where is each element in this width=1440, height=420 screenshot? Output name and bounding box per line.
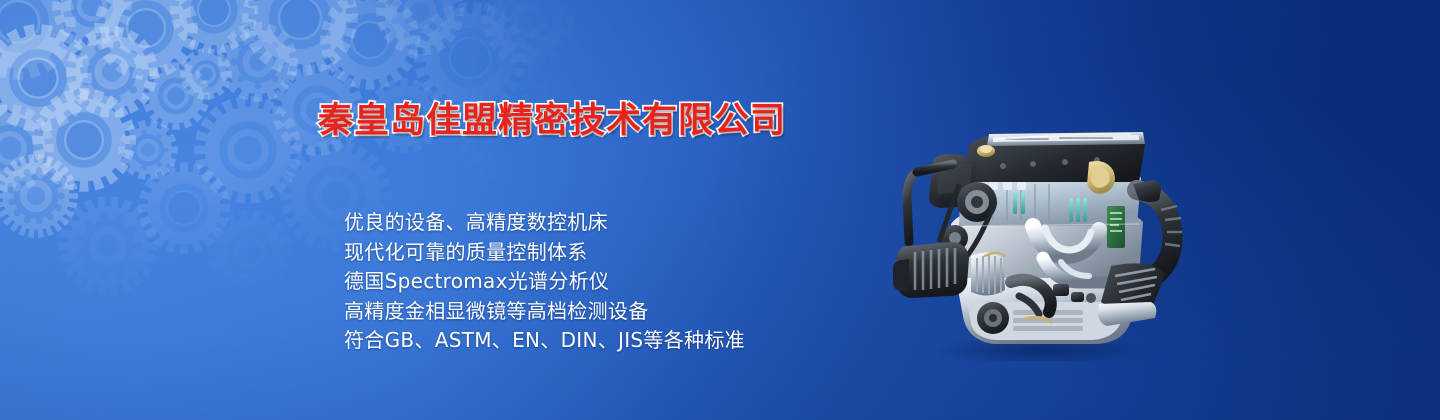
page-title: 秦皇岛佳盟精密技术有限公司: [318, 101, 786, 141]
feature-line: 高精度金相显微镜等高档检测设备: [344, 297, 745, 327]
feature-line: 德国Spectromax光谱分析仪: [344, 267, 745, 297]
feature-list: 优良的设备、高精度数控机床 现代化可靠的质量控制体系 德国Spectromax光…: [344, 208, 745, 356]
feature-line: 优良的设备、高精度数控机床: [344, 208, 745, 238]
feature-line: 现代化可靠的质量控制体系: [344, 238, 745, 268]
company-banner: 秦皇岛佳盟精密技术有限公司 优良的设备、高精度数控机床 现代化可靠的质量控制体系…: [0, 0, 1440, 420]
feature-line: 符合GB、ASTM、EN、DIN、JIS等各种标准: [344, 326, 745, 356]
car-engine-photo: [893, 106, 1193, 361]
